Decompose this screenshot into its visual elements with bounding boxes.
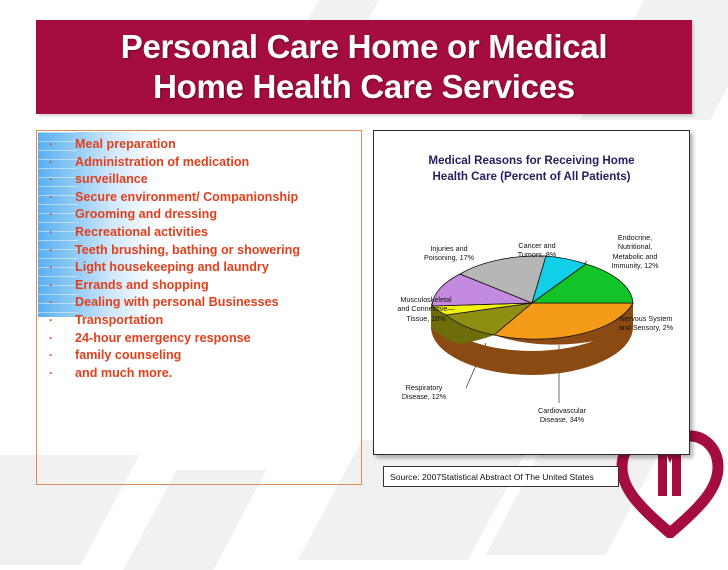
bullet-marker-icon: · <box>43 313 75 328</box>
pie-label-cancer: Cancer and Tumors, 8% <box>500 241 574 260</box>
pie-label-injuries: Injuries and Poisoning, 17% <box>406 244 492 263</box>
bullet-marker-icon: · <box>43 331 75 346</box>
title-line-2: Home Health Care Services <box>153 68 575 105</box>
list-item: ·Secure environment/ Companionship <box>43 190 355 205</box>
bullet-marker-icon: · <box>43 190 75 205</box>
list-item: ·Dealing with personal Businesses <box>43 295 355 310</box>
pie-label-nervous-system: Nervous System and Sensory, 2% <box>602 314 690 333</box>
pie-label-line: Metabolic and <box>613 252 658 261</box>
list-item: ·family counseling <box>43 348 355 363</box>
list-item: ·Transportation <box>43 313 355 328</box>
slide-title-banner: Personal Care Home or Medical Home Healt… <box>36 20 692 114</box>
bullet-marker-icon: · <box>43 155 75 170</box>
bullet-marker-icon: · <box>43 366 75 381</box>
list-item-label: Light housekeeping and laundry <box>75 260 355 275</box>
list-item: ·Grooming and dressing <box>43 207 355 222</box>
list-item-label: Errands and shopping <box>75 278 355 293</box>
list-item-label: and much more. <box>75 366 355 381</box>
pie-label-line: and Connective— <box>397 304 454 313</box>
bullet-marker-icon: · <box>43 260 75 275</box>
list-item-label: Grooming and dressing <box>75 207 355 222</box>
page-title: Personal Care Home or Medical Home Healt… <box>111 27 617 107</box>
background-watermark-shape <box>123 470 266 570</box>
pie-chart: Injuries and Poisoning, 17% Cancer and T… <box>374 131 689 454</box>
bullet-marker-icon: · <box>43 278 75 293</box>
pie-label-line: and Sensory, 2% <box>619 323 673 332</box>
pie-label-line: Cardiovascular <box>538 406 586 415</box>
pie-label-line: Tissue, 16% <box>406 314 445 323</box>
list-item-label: family counseling <box>75 348 355 363</box>
source-box: Source: 2007Statistical Abstract Of The … <box>383 466 619 487</box>
bullet-marker-icon: · <box>43 137 75 152</box>
list-item-label: Secure environment/ Companionship <box>75 190 355 205</box>
title-line-1: Personal Care Home or Medical <box>121 28 607 65</box>
list-item: ·and much more. <box>43 366 355 381</box>
pie-label-musculoskeletal: Musculoskeletal and Connective— Tissue, … <box>374 295 478 323</box>
pie-label-line: Cancer and <box>518 241 555 250</box>
pie-label-line: Nutritional, <box>618 242 652 251</box>
pie-label-line: Injuries and <box>430 244 467 253</box>
list-item-label: Teeth brushing, bathing or showering <box>75 243 355 258</box>
bullet-marker-icon: · <box>43 207 75 222</box>
pie-label-line: Disease, 12% <box>402 392 446 401</box>
pie-label-line: Respiratory <box>406 383 443 392</box>
bullet-marker-icon: · <box>43 225 75 240</box>
pie-label-line: Tumors, 8% <box>518 250 556 259</box>
pie-label-cardiovascular: Cardiovascular Disease, 34% <box>514 406 610 425</box>
pie-label-line: Nervous System <box>620 314 673 323</box>
pie-label-endocrine: Endocrine, Nutritional, Metabolic and Im… <box>587 233 683 271</box>
pie-label-respiratory: Respiratory Disease, 12% <box>382 383 466 402</box>
services-list: ·Meal preparation·Administration of medi… <box>37 131 361 380</box>
list-item-label: Dealing with personal Businesses <box>75 295 355 310</box>
list-item-label: Administration of medication <box>75 155 355 170</box>
list-item-label: Meal preparation <box>75 137 355 152</box>
list-item-label: Recreational activities <box>75 225 355 240</box>
list-item: ·Teeth brushing, bathing or showering <box>43 243 355 258</box>
chart-panel: Medical Reasons for Receiving Home Healt… <box>373 130 690 455</box>
list-item: ·Meal preparation <box>43 137 355 152</box>
list-item: ·24-hour emergency response <box>43 331 355 346</box>
list-item-label: Transportation <box>75 313 355 328</box>
list-item-label: 24-hour emergency response <box>75 331 355 346</box>
pie-label-line: Disease, 34% <box>540 415 584 424</box>
source-text: Source: 2007Statistical Abstract Of The … <box>390 472 594 482</box>
list-item-label: surveillance <box>75 172 355 187</box>
pie-label-line: Endocrine, <box>618 233 652 242</box>
bullet-marker-icon: · <box>43 295 75 310</box>
list-item: ·Light housekeeping and laundry <box>43 260 355 275</box>
list-item: ·Errands and shopping <box>43 278 355 293</box>
pie-label-line: Immunity, 12% <box>612 261 659 270</box>
bullet-marker-icon: · <box>43 172 75 187</box>
pie-label-line: Musculoskeletal <box>400 295 451 304</box>
services-list-box: ·Meal preparation·Administration of medi… <box>36 130 362 485</box>
list-item: ·surveillance <box>43 172 355 187</box>
bullet-marker-icon: · <box>43 243 75 258</box>
bullet-marker-icon: · <box>43 348 75 363</box>
list-item: ·Administration of medication <box>43 155 355 170</box>
pie-label-line: Poisoning, 17% <box>424 253 474 262</box>
list-item: ·Recreational activities <box>43 225 355 240</box>
